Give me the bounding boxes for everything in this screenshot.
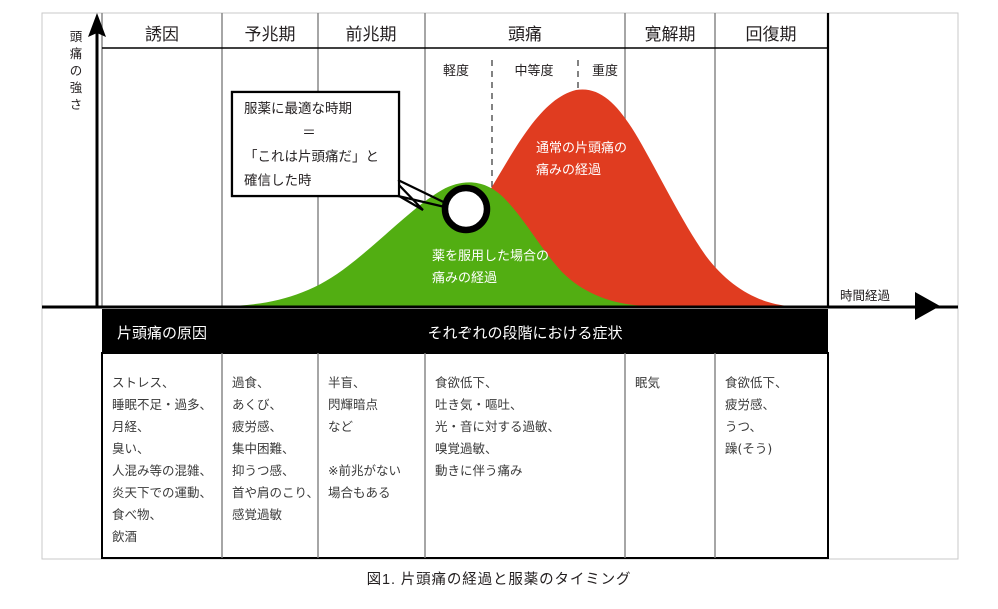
phase-header-trigger: 誘因	[145, 25, 179, 45]
symptom-line: 閃輝暗点	[328, 397, 378, 412]
symptom-line: 食べ物、	[112, 507, 162, 522]
symptom-line: 睡眠不足・過多、	[112, 397, 212, 412]
symptom-line: 場合もある	[328, 485, 391, 500]
severity-label-severe: 重度	[592, 63, 618, 79]
y-axis-label-char-2: の	[70, 63, 83, 78]
symptom-line: 疲労感、	[232, 419, 282, 434]
symptom-line: 動きに伴う痛み	[435, 463, 523, 478]
figure-caption: 図1. 片頭痛の経過と服薬のタイミング	[0, 568, 998, 589]
severity-label-mild: 軽度	[443, 63, 469, 79]
symptom-line: うつ、	[725, 419, 762, 434]
symptom-line: 炎天下での運動、	[112, 485, 212, 500]
symptom-line: ※前兆がない	[328, 463, 401, 478]
migraine-figure: 誘因 予兆期 前兆期 頭痛 寛解期 回復期 軽度 中等度 重度 頭 痛 の 強 …	[0, 0, 998, 609]
y-axis-label: 頭 痛 の 強 さ	[70, 29, 83, 112]
treated-curve-label-line2: 痛みの経過	[432, 270, 497, 286]
x-axis-label: 時間経過	[840, 288, 891, 303]
symptom-line: 過食、	[232, 375, 270, 390]
banner-label-symptoms: それぞれの段階における症状	[427, 324, 622, 342]
symptom-line: 眠気	[635, 375, 660, 390]
symptom-line: 抑うつ感、	[232, 463, 295, 478]
callout-line-3: 「これは片頭痛だ」と	[244, 148, 379, 165]
phase-header-aura: 前兆期	[346, 25, 397, 45]
symptom-line: 首や肩のこり、	[232, 485, 319, 500]
phase-header-recovery: 回復期	[746, 25, 797, 45]
banner-label-causes: 片頭痛の原因	[117, 324, 207, 342]
symptom-line: 集中困難、	[232, 441, 295, 456]
untreated-curve-label-line1: 通常の片頭痛の	[536, 140, 627, 156]
symptom-line: 飲酒	[112, 529, 137, 544]
phase-header-prodrome: 予兆期	[245, 25, 296, 45]
symptom-line: 食欲低下、	[435, 375, 498, 390]
y-axis-label-char-3: 強	[70, 80, 83, 95]
symptom-line: 躁(そう)	[725, 441, 772, 456]
symptom-line: 吐き気・嘔吐、	[435, 397, 523, 412]
symptom-line: 半盲、	[328, 375, 366, 390]
symptom-cell-resolution: 眠気	[635, 375, 660, 390]
symptom-line: 嗅覚過敏、	[435, 441, 498, 456]
medication-timing-marker	[445, 188, 487, 230]
symptom-line: ストレス、	[112, 375, 175, 390]
untreated-curve-label-line2: 痛みの経過	[536, 162, 601, 178]
symptom-line: 光・音に対する過敏、	[435, 419, 560, 434]
symptom-line: あくび、	[232, 397, 282, 412]
treated-curve-label-line1: 薬を服用した場合の	[432, 249, 549, 264]
symptom-line: など	[328, 419, 354, 434]
callout-line-4: 確信した時	[244, 173, 312, 189]
severity-label-moderate: 中等度	[514, 63, 553, 79]
diagram-canvas: 誘因 予兆期 前兆期 頭痛 寛解期 回復期 軽度 中等度 重度 頭 痛 の 強 …	[0, 0, 998, 609]
phase-header-resolution: 寛解期	[645, 25, 696, 45]
symptom-line: 感覚過敏	[232, 507, 283, 522]
symptom-line: 臭い、	[112, 441, 150, 456]
symptom-line: 疲労感、	[725, 397, 775, 412]
symptom-line: 月経、	[112, 419, 150, 434]
phase-header-headache: 頭痛	[508, 25, 542, 45]
y-axis-label-char-0: 頭	[70, 29, 83, 44]
symptom-line: 食欲低下、	[725, 375, 788, 390]
callout-line-2: ＝	[302, 125, 316, 141]
y-axis-label-char-4: さ	[70, 97, 83, 112]
callout-line-1: 服薬に最適な時期	[244, 100, 352, 117]
y-axis-label-char-1: 痛	[70, 46, 83, 61]
symptom-line: 人混み等の混雑、	[112, 463, 212, 478]
